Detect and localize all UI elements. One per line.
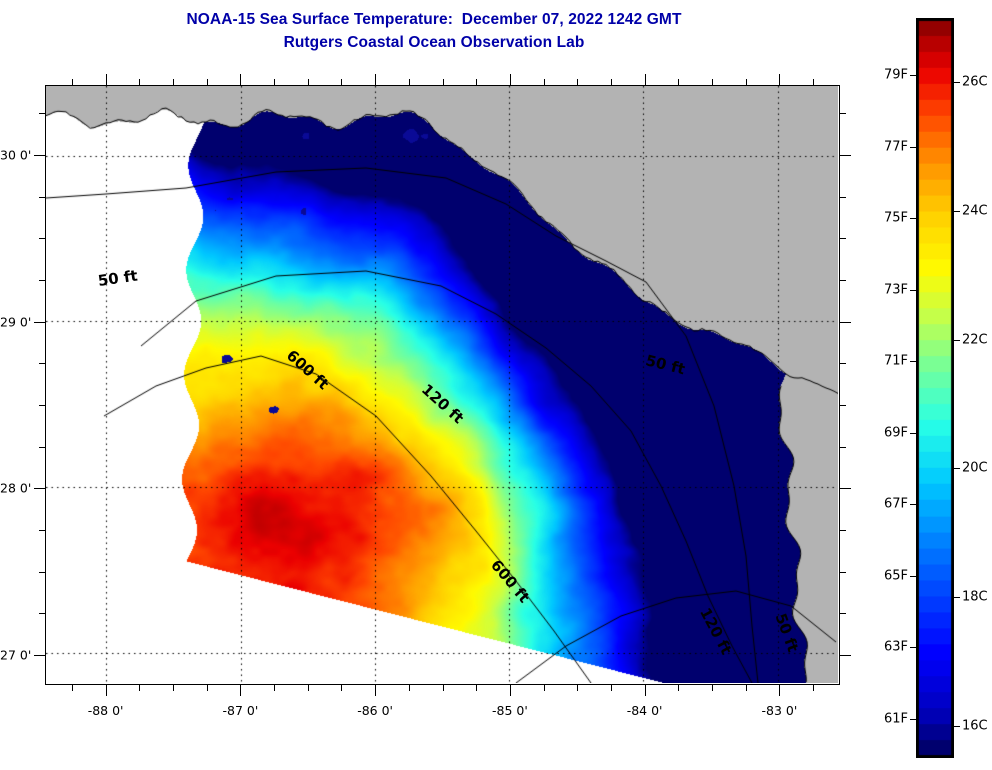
y-axis-minor-tick-right [840, 613, 846, 614]
sst-map-plot-area[interactable]: 50 ft600 ft120 ft50 ft600 ft120 ft50 ft [45, 85, 840, 685]
x-axis-minor-tick-top [577, 79, 578, 85]
x-axis-minor-tick [274, 685, 275, 691]
colorbar-tick-f [910, 504, 916, 505]
x-axis-minor-tick-top [341, 79, 342, 85]
title-line-1: NOAA-15 Sea Surface Temperature: Decembe… [0, 8, 868, 31]
x-axis-minor-tick [409, 685, 410, 691]
colorbar-label-fahrenheit: 65F [884, 568, 908, 583]
colorbar-tick-c [954, 726, 960, 727]
y-axis-minor-tick [39, 113, 45, 114]
colorbar-label-fahrenheit: 75F [884, 211, 908, 226]
y-axis-major-tick [34, 488, 45, 489]
x-axis-minor-tick [611, 685, 612, 691]
x-axis-major-tick [375, 685, 376, 696]
y-axis-minor-tick-right [840, 363, 846, 364]
y-axis-major-tick [34, 655, 45, 656]
colorbar-label-celsius: 18C [962, 590, 988, 605]
x-axis-minor-tick-top [476, 79, 477, 85]
x-axis-major-tick-top [375, 74, 376, 85]
colorbar-tick-c [954, 340, 960, 341]
y-axis-minor-tick-right [840, 280, 846, 281]
x-axis-major-tick [106, 685, 107, 696]
colorbar-label-fahrenheit: 61F [884, 711, 908, 726]
x-axis-minor-tick-top [813, 79, 814, 85]
x-axis-minor-tick-top [207, 79, 208, 85]
colorbar-label-fahrenheit: 63F [884, 640, 908, 655]
x-axis-minor-tick-top [173, 79, 174, 85]
x-axis-major-tick-top [779, 74, 780, 85]
y-axis-minor-tick-right [840, 530, 846, 531]
colorbar-label-fahrenheit: 73F [884, 282, 908, 297]
x-axis-minor-tick [207, 685, 208, 691]
y-axis-minor-tick-right [840, 572, 846, 573]
x-axis-minor-tick [577, 685, 578, 691]
colorbar-tick-f [910, 147, 916, 148]
colorbar-tick-f [910, 719, 916, 720]
y-axis-label: 30 0' [0, 148, 30, 163]
y-axis-minor-tick-right [840, 197, 846, 198]
x-axis-major-tick-top [510, 74, 511, 85]
y-axis-major-tick-right [840, 488, 851, 489]
y-axis-label: 27 0' [0, 648, 30, 663]
x-axis-minor-tick [139, 685, 140, 691]
x-axis-minor-tick-top [611, 79, 612, 85]
x-axis-major-tick [645, 685, 646, 696]
y-axis-minor-tick [39, 447, 45, 448]
x-axis-minor-tick-top [139, 79, 140, 85]
temperature-colorbar[interactable]: 79F77F75F73F71F69F67F65F63F61F26C24C22C2… [916, 18, 954, 758]
colorbar-label-fahrenheit: 67F [884, 497, 908, 512]
colorbar-label-celsius: 16C [962, 718, 988, 733]
x-axis-minor-tick [476, 685, 477, 691]
colorbar-label-celsius: 24C [962, 204, 988, 219]
x-axis-minor-tick-top [274, 79, 275, 85]
x-axis-minor-tick [678, 685, 679, 691]
colorbar-label-fahrenheit: 79F [884, 68, 908, 83]
x-axis-label: -85 0' [492, 703, 528, 718]
x-axis-minor-tick-top [544, 79, 545, 85]
x-axis-minor-tick [746, 685, 747, 691]
y-axis-major-tick-right [840, 155, 851, 156]
x-axis-minor-tick-top [746, 79, 747, 85]
colorbar-tick-c [954, 468, 960, 469]
chart-title-block: NOAA-15 Sea Surface Temperature: Decembe… [0, 8, 868, 54]
x-axis-label: -84 0' [627, 703, 663, 718]
x-axis-minor-tick [72, 685, 73, 691]
y-axis-minor-tick [39, 280, 45, 281]
colorbar-tick-f [910, 576, 916, 577]
y-axis-minor-tick-right [840, 238, 846, 239]
colorbar-label-celsius: 26C [962, 75, 988, 90]
y-axis-minor-tick-right [840, 113, 846, 114]
x-axis-minor-tick-top [409, 79, 410, 85]
x-axis-minor-tick-top [678, 79, 679, 85]
y-axis-minor-tick [39, 613, 45, 614]
y-axis-minor-tick [39, 197, 45, 198]
colorbar-tick-f [910, 361, 916, 362]
colorbar-label-celsius: 22C [962, 332, 988, 347]
colorbar-label-fahrenheit: 71F [884, 354, 908, 369]
y-axis-label: 28 0' [0, 481, 30, 496]
colorbar-tick-f [910, 218, 916, 219]
colorbar-label-fahrenheit: 69F [884, 425, 908, 440]
colorbar-label-celsius: 20C [962, 461, 988, 476]
y-axis-minor-tick-right [840, 405, 846, 406]
y-axis-label: 29 0' [0, 314, 30, 329]
y-axis-major-tick [34, 322, 45, 323]
x-axis-minor-tick [443, 685, 444, 691]
x-axis-label: -83 0' [762, 703, 798, 718]
x-axis-minor-tick-top [308, 79, 309, 85]
y-axis-major-tick-right [840, 655, 851, 656]
y-axis-minor-tick-right [840, 447, 846, 448]
x-axis-major-tick [779, 685, 780, 696]
y-axis-minor-tick [39, 572, 45, 573]
x-axis-major-tick-top [645, 74, 646, 85]
sst-heatmap-canvas [46, 86, 838, 683]
y-axis-minor-tick [39, 363, 45, 364]
y-axis-minor-tick [39, 238, 45, 239]
colorbar-gradient [916, 18, 954, 758]
colorbar-tick-c [954, 597, 960, 598]
x-axis-minor-tick [173, 685, 174, 691]
x-axis-minor-tick [308, 685, 309, 691]
colorbar-tick-c [954, 211, 960, 212]
x-axis-major-tick-top [240, 74, 241, 85]
x-axis-label: -86 0' [357, 703, 393, 718]
y-axis-major-tick [34, 155, 45, 156]
colorbar-tick-f [910, 433, 916, 434]
colorbar-tick-c [954, 82, 960, 83]
x-axis-minor-tick [813, 685, 814, 691]
colorbar-tick-f [910, 290, 916, 291]
x-axis-major-tick [510, 685, 511, 696]
x-axis-minor-tick-top [712, 79, 713, 85]
x-axis-major-tick-top [106, 74, 107, 85]
x-axis-minor-tick-top [443, 79, 444, 85]
colorbar-tick-f [910, 647, 916, 648]
x-axis-minor-tick [712, 685, 713, 691]
x-axis-minor-tick [544, 685, 545, 691]
y-axis-major-tick-right [840, 322, 851, 323]
colorbar-tick-f [910, 75, 916, 76]
colorbar-label-fahrenheit: 77F [884, 139, 908, 154]
y-axis-minor-tick [39, 405, 45, 406]
x-axis-label: -88 0' [88, 703, 124, 718]
title-line-2: Rutgers Coastal Ocean Observation Lab [0, 31, 868, 54]
y-axis-minor-tick [39, 530, 45, 531]
x-axis-major-tick [240, 685, 241, 696]
x-axis-minor-tick-top [72, 79, 73, 85]
x-axis-minor-tick [341, 685, 342, 691]
x-axis-label: -87 0' [223, 703, 259, 718]
